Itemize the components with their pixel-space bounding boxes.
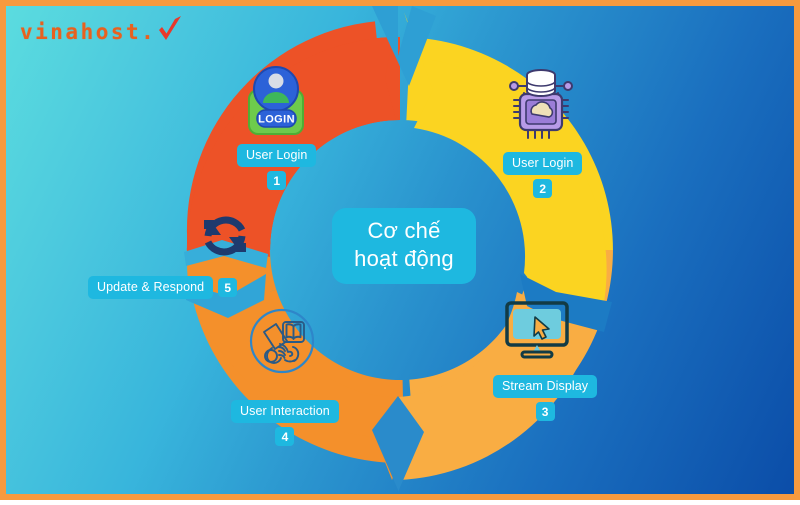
- step-4-number: 4: [275, 427, 294, 446]
- step-1-number: 1: [267, 171, 286, 190]
- hand-tablet-book-icon: [249, 308, 315, 379]
- step-4-label: User Interaction: [231, 400, 339, 423]
- center-title-line1: Cơ chế: [338, 217, 470, 245]
- step-5[interactable]: Update & Respond 5: [88, 276, 237, 299]
- svg-text:LOGIN: LOGIN: [258, 114, 295, 126]
- step-2-label: User Login: [503, 152, 582, 175]
- step-1-label: User Login: [237, 144, 316, 167]
- monitor-cursor-icon: [504, 300, 570, 367]
- step-4[interactable]: User Interaction 4: [231, 400, 339, 446]
- step-3-label: Stream Display: [493, 375, 597, 398]
- step-3[interactable]: Stream Display 3: [493, 375, 597, 421]
- vinahost-logo[interactable]: vinahost.: [20, 22, 184, 57]
- center-title-line2: hoạt động: [338, 245, 470, 273]
- step-3-number: 3: [536, 402, 555, 421]
- red-checkmark-icon: [157, 15, 183, 50]
- logo-wordmark: vinahost.: [20, 22, 156, 43]
- step-2-number: 2: [533, 179, 552, 198]
- step-5-label: Update & Respond: [88, 276, 213, 299]
- refresh-sync-icon: [196, 208, 254, 269]
- center-title-badge: Cơ chế hoạt động: [332, 208, 476, 284]
- step-1[interactable]: User Login 1: [237, 144, 316, 190]
- infographic-canvas: vinahost.: [0, 0, 800, 500]
- login-card-icon: LOGIN: [243, 62, 309, 143]
- step-2[interactable]: User Login 2: [503, 152, 582, 198]
- step-5-number: 5: [218, 278, 237, 297]
- database-chip-icon: [500, 62, 582, 151]
